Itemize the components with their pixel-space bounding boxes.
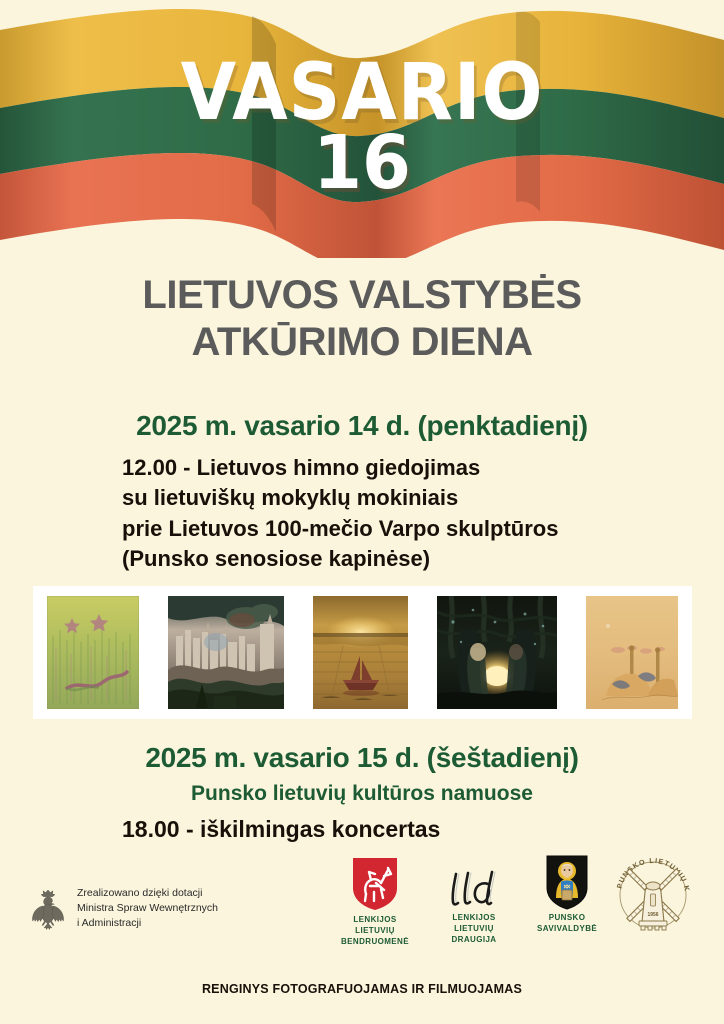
logo-lenkijos-lietuviu-bendruomene[interactable]: LENKIJOS LIETUVIŲ BENDRUOMENĖ: [341, 856, 409, 947]
ministry-credit-line: i Administracji: [77, 916, 218, 931]
painting-ochre-sketch: [586, 596, 678, 709]
logo-caption-line: BENDRUOMENĖ: [341, 937, 409, 948]
poster-root: VASARIO 16 LIETUVOS VALSTYBĖS ATKŪRIMO D…: [0, 0, 724, 1024]
logo-caption-line: LIETUVIŲ: [452, 924, 497, 935]
event-detail-line: prie Lietuvos 100-mečio Varpo skulptūros: [122, 514, 642, 544]
logo-caption-line: LENKIJOS: [452, 913, 497, 924]
lithuanian-flag-banner-icon: [0, 0, 724, 258]
event-date-friday: 2025 m. vasario 14 d. (penktadienį): [0, 410, 724, 442]
logo-caption: LENKIJOS LIETUVIŲ BENDRUOMENĖ: [341, 915, 409, 947]
polish-eagle-emblem-icon: [28, 887, 68, 931]
event-details-saturday: 18.00 - iškilmingas koncertas: [122, 816, 642, 843]
event-detail-line: 12.00 - Lietuvos himno giedojimas: [122, 453, 642, 483]
logo-lenkijos-lietuviu-draugija[interactable]: LENKIJOS LIETUVIŲ DRAUGIJA: [447, 868, 501, 945]
event-detail-line: su lietuviškų mokyklų mokiniais: [122, 483, 642, 513]
painting-golden-sea-boat: [313, 596, 408, 709]
logo-caption-line: DRAUGIJA: [452, 935, 497, 946]
logo-caption: LENKIJOS LIETUVIŲ DRAUGIJA: [452, 913, 497, 945]
event-date-saturday: 2025 m. vasario 15 d. (šeštadienį): [0, 742, 724, 774]
logo-caption-line: SAVIVALDYBĖ: [537, 924, 597, 935]
logo-caption: PUNSKO SAVIVALDYBĖ: [537, 913, 597, 935]
artwork-gallery: [33, 586, 692, 719]
sponsor-bar: Zrealizowano dzięki dotacji Ministra Spr…: [0, 852, 724, 962]
lld-monogram-icon: [447, 868, 501, 910]
page-title-line-1: LIETUVOS VALSTYBĖS: [0, 272, 724, 319]
logo-caption-line: LIETUVIŲ: [341, 926, 409, 937]
punsk-coat-of-arms-icon: [544, 854, 590, 910]
painting-green-stars-serpent: [47, 596, 139, 709]
photo-notice: RENGINYS FOTOGRAFUOJAMAS IR FILMUOJAMAS: [0, 982, 724, 996]
logo-punsko-lietuviu-kulturos-namai[interactable]: PUNSKO LIETUVIŲ KULTŪROS NAMAI: [612, 854, 694, 936]
ministry-credit-line: Ministra Spraw Wewnętrznych: [77, 901, 218, 916]
painting-castle-city: [168, 596, 284, 709]
logo-caption-line: PUNSKO: [537, 913, 597, 924]
ministry-credit-text: Zrealizowano dzięki dotacji Ministra Spr…: [77, 886, 218, 932]
page-title: LIETUVOS VALSTYBĖS ATKŪRIMO DIENA: [0, 272, 724, 366]
flag-banner: VASARIO 16: [0, 0, 724, 258]
event-detail-line: (Punsko senosiose kapinėse): [122, 544, 642, 574]
red-shield-vytis-icon: [350, 856, 400, 912]
event-venue-saturday: Punsko lietuvių kultūros namuose: [0, 782, 724, 806]
seal-year: 1956: [647, 912, 658, 918]
event-details-friday: 12.00 - Lietuvos himno giedojimas su lie…: [122, 453, 642, 574]
painting-dark-forest-light: [437, 596, 557, 709]
ministry-funding-credit: Zrealizowano dzięki dotacji Ministra Spr…: [28, 886, 218, 932]
logo-punsko-savivaldybe[interactable]: PUNSKO SAVIVALDYBĖ: [537, 854, 597, 935]
ministry-credit-line: Zrealizowano dzięki dotacji: [77, 886, 218, 901]
logo-caption-line: LENKIJOS: [341, 915, 409, 926]
windmill-seal-icon: PUNSKO LIETUVIŲ KULTŪROS NAMAI: [612, 854, 694, 936]
page-title-line-2: ATKŪRIMO DIENA: [0, 319, 724, 366]
